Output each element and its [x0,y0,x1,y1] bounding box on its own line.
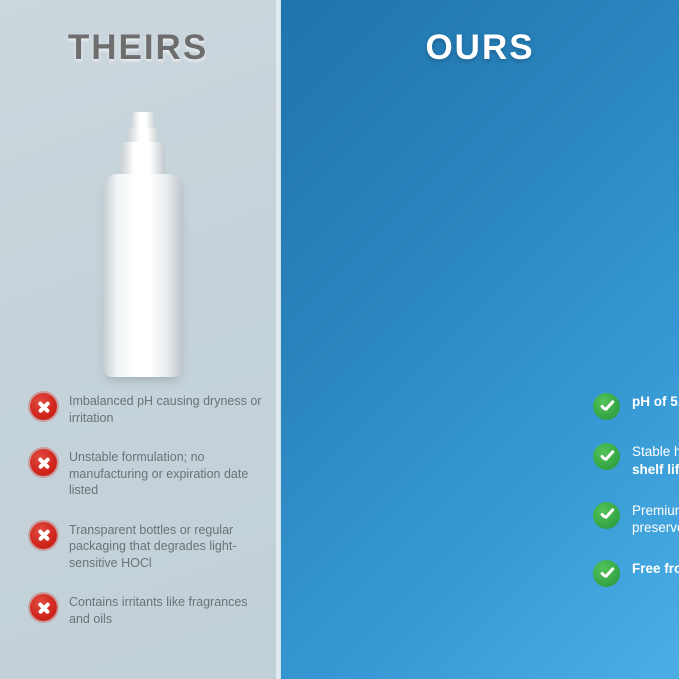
ours-list: pH of 5.5 for skin’s ideal balance Stabl… [593,392,679,587]
list-item-label: Unstable formulation; no manufacturing o… [69,448,262,499]
list-item-label: Stable hypochlorous acid formulation for… [632,442,679,479]
spray-nozzle-icon [132,112,154,144]
theirs-list: Imbalanced pH causing dryness or irritat… [30,392,262,627]
comparison-infographic: THEIRS Imbalanced pH causing dryness or … [0,0,679,679]
list-item: Premium, airtight, recyclable PET packag… [593,501,679,538]
green-check-icon [593,560,620,587]
list-item-label: Contains irritants like fragrances and o… [69,593,262,627]
list-item-label: Free from alcohol, oils, and fragrances [632,559,679,578]
list-item-label: Premium, airtight, recyclable PET packag… [632,501,679,538]
green-check-icon [593,502,620,529]
competitor-bottle-image [103,112,183,377]
list-item: Stable hypochlorous acid formulation for… [593,442,679,479]
ours-panel: OURS honeydew labs [281,0,679,679]
red-x-icon [30,393,57,420]
red-x-icon [30,449,57,476]
list-item: Transparent bottles or regular packaging… [30,521,262,572]
list-item: Unstable formulation; no manufacturing o… [30,448,262,499]
theirs-panel: THEIRS Imbalanced pH causing dryness or … [0,0,276,679]
green-check-icon [593,393,620,420]
red-x-icon [30,522,57,549]
list-item-label: Transparent bottles or regular packaging… [69,521,262,572]
green-check-icon [593,443,620,470]
ours-title: OURS [281,28,679,68]
bottle-body [103,174,183,377]
list-item-label: pH of 5.5 for skin’s ideal balance [632,392,679,411]
list-item: pH of 5.5 for skin’s ideal balance [593,392,679,420]
theirs-title: THEIRS [0,28,276,68]
list-item-label: Imbalanced pH causing dryness or irritat… [69,392,262,426]
bottle-collar [121,142,165,176]
list-item: Contains irritants like fragrances and o… [30,593,262,627]
red-x-icon [30,594,57,621]
list-item: Free from alcohol, oils, and fragrances [593,559,679,587]
list-item: Imbalanced pH causing dryness or irritat… [30,392,262,426]
